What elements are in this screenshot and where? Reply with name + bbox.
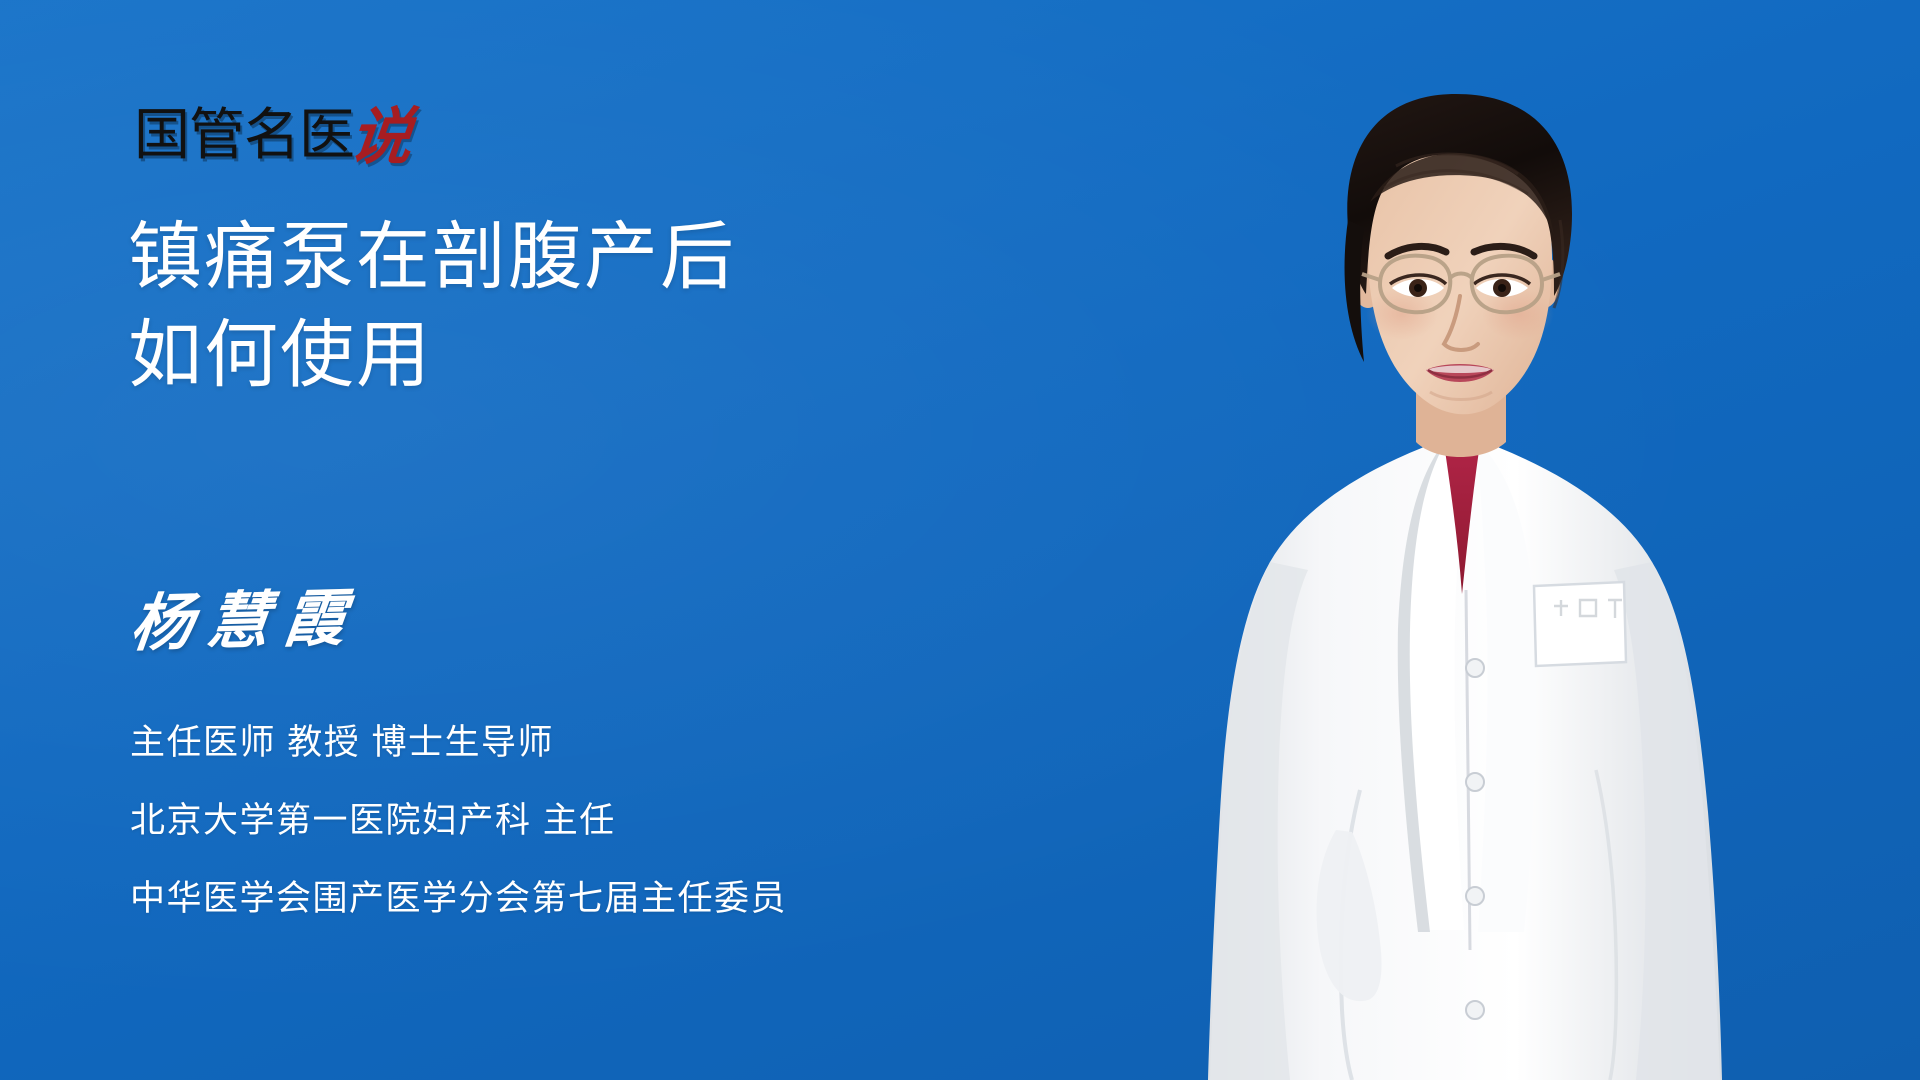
- episode-title: 镇痛泵在剖腹产后 如何使用: [128, 208, 1028, 403]
- title-line-2: 如何使用: [128, 306, 1028, 404]
- credential-line-3: 中华医学会围产医学分会第七届主任委员: [130, 881, 1130, 916]
- doctor-credentials: 主任医师 教授 博士生导师 北京大学第一医院妇产科 主任 中华医学会围产医学分会…: [130, 725, 1130, 916]
- program-logo: 国管名医 说: [134, 92, 412, 164]
- logo-accent-text: 说: [347, 106, 416, 168]
- logo-main-text: 国管名医: [134, 108, 354, 164]
- doctor-portrait: [1130, 70, 1770, 1080]
- coat-button: [1466, 1001, 1484, 1019]
- lab-coat: [1208, 424, 1722, 1080]
- doctor-head: [1345, 94, 1572, 414]
- coat-button: [1466, 887, 1484, 905]
- poster-canvas: 国管名医 说 镇痛泵在剖腹产后 如何使用 杨慧霞 主任医师 教授 博士生导师 北…: [0, 0, 1920, 1080]
- doctor-portrait-illustration: [1130, 70, 1770, 1080]
- title-line-1: 镇痛泵在剖腹产后: [128, 208, 1028, 306]
- coat-button: [1466, 773, 1484, 791]
- coat-button: [1466, 659, 1484, 677]
- doctor-name: 杨慧霞: [126, 567, 365, 663]
- credential-line-1: 主任医师 教授 博士生导师: [130, 725, 1130, 760]
- coat-pocket: [1534, 582, 1626, 666]
- credential-line-2: 北京大学第一医院妇产科 主任: [130, 803, 1130, 838]
